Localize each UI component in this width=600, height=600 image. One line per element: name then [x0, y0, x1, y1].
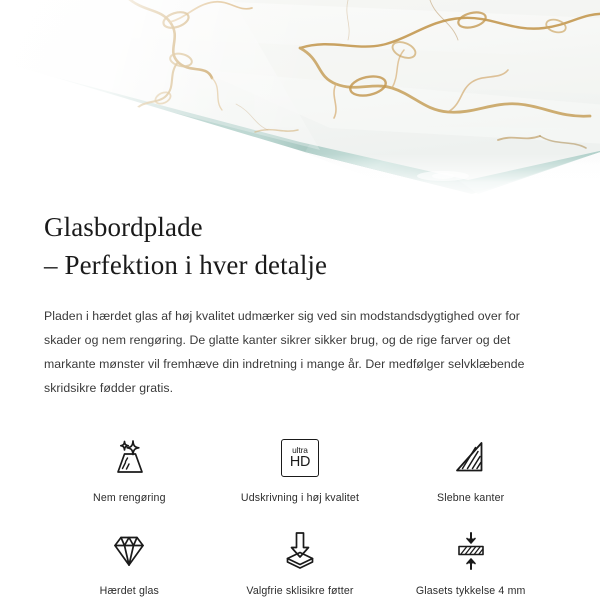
headline-line-2: – Perfektion i hver detalje: [44, 246, 556, 284]
ultra-hd-icon: ultra HD: [281, 435, 319, 481]
headline-line-1: Glasbordplade: [44, 212, 203, 242]
hd-badge-top-text: ultra: [292, 446, 308, 454]
feature-grid: Nem rengøring ultra HD Udskrivning i høj…: [44, 435, 556, 597]
feature-item-polished-edges: Slebne kanter: [385, 435, 556, 504]
glass-tabletop-illustration: [0, 0, 600, 200]
feature-item-hd-print: ultra HD Udskrivning i høj kvalitet: [215, 435, 386, 504]
hero-product-image: [0, 0, 600, 200]
page-title: Glasbordplade – Perfektion i hver detalj…: [44, 200, 556, 285]
feature-label: Udskrivning i høj kvalitet: [241, 492, 359, 504]
feature-label: Slebne kanter: [437, 492, 504, 504]
hd-badge-bottom-text: HD: [290, 455, 310, 469]
feature-item-thickness: Glasets tykkelse 4 mm: [385, 528, 556, 597]
anti-slip-foot-icon: [278, 528, 322, 574]
feature-item-easy-cleaning: Nem rengøring: [44, 435, 215, 504]
sparkle-plate-icon: [105, 435, 153, 481]
polished-edge-icon: [450, 435, 492, 481]
diamond-icon: [107, 528, 151, 574]
feature-label: Hærdet glas: [100, 585, 159, 597]
feature-label: Glasets tykkelse 4 mm: [416, 585, 526, 597]
feature-label: Nem rengøring: [93, 492, 166, 504]
hd-badge: ultra HD: [281, 439, 319, 477]
feature-item-tempered-glass: Hærdet glas: [44, 528, 215, 597]
feature-label: Valgfrie sklisikre føtter: [246, 585, 353, 597]
thickness-icon: [449, 528, 493, 574]
content-section: Glasbordplade – Perfektion i hver detalj…: [0, 200, 600, 597]
product-description: Pladen i hærdet glas af høj kvalitet udm…: [44, 305, 556, 401]
feature-item-anti-slip-feet: Valgfrie sklisikre føtter: [215, 528, 386, 597]
